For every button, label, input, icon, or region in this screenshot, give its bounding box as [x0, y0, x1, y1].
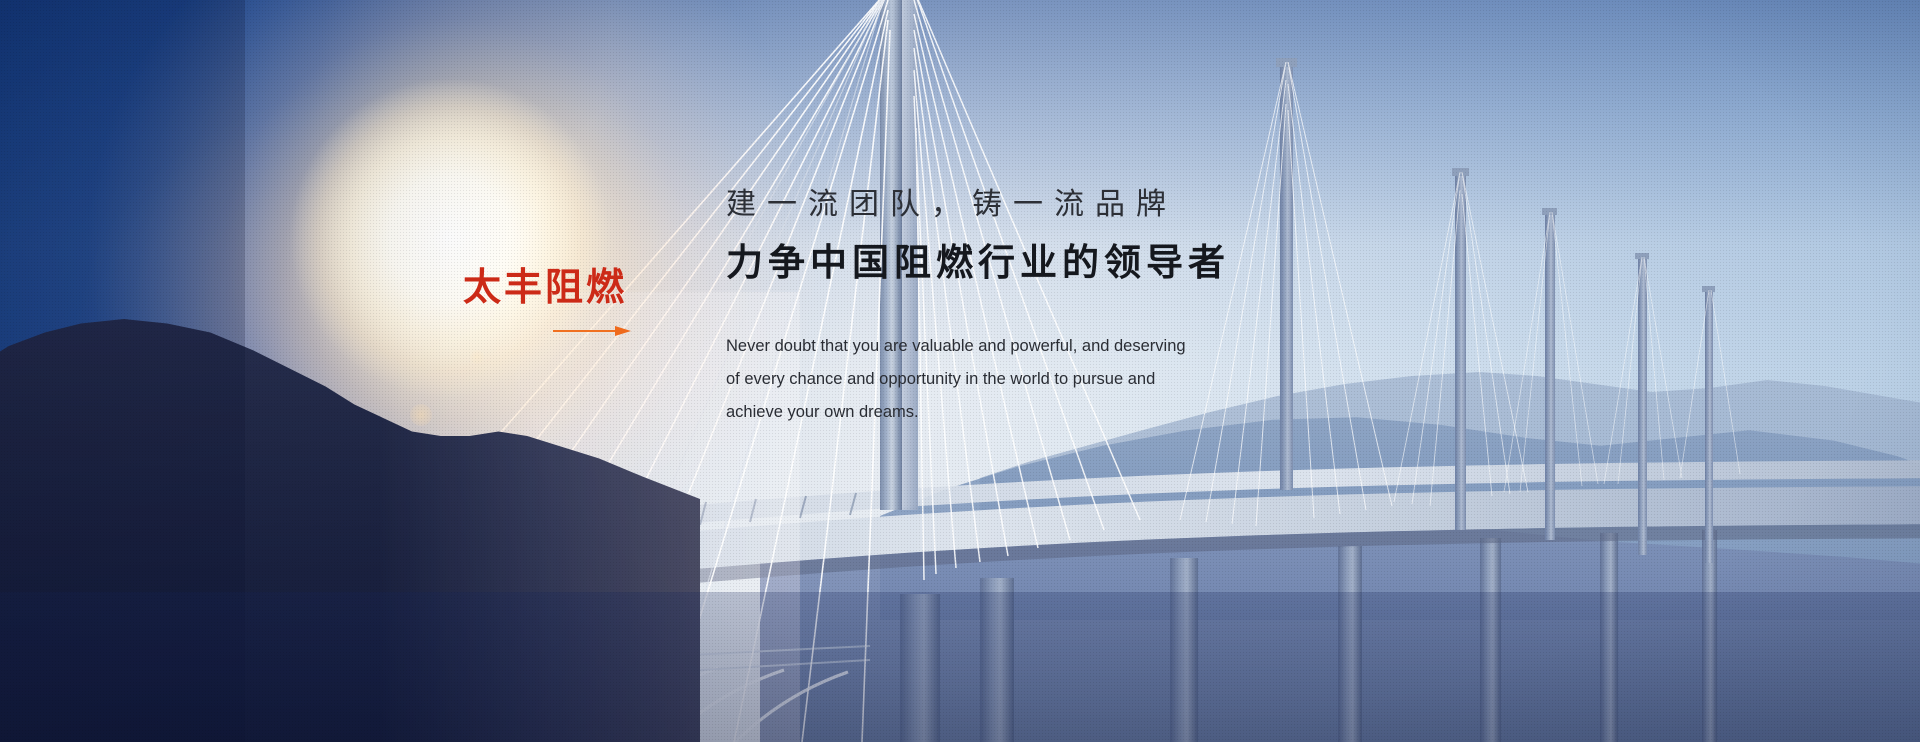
banner-copy: 太丰阻燃 建一流团队，铸一流品牌 力争中国阻燃行业的领导者 Never doub…: [0, 0, 1920, 742]
hero-banner: 太丰阻燃 建一流团队，铸一流品牌 力争中国阻燃行业的领导者 Never doub…: [0, 0, 1920, 742]
right-arrow-icon: [553, 324, 631, 336]
headline-title: 力争中国阻燃行业的领导者: [726, 240, 1626, 286]
description-line-1: Never doubt that you are valuable and po…: [726, 330, 1306, 363]
description-line-3: achieve your own dreams.: [726, 396, 1306, 429]
headline-subtitle: 建一流团队，铸一流品牌: [726, 186, 1626, 224]
headline-block: 建一流团队，铸一流品牌 力争中国阻燃行业的领导者: [726, 186, 1626, 286]
brand-logo[interactable]: 太丰阻燃: [463, 268, 643, 306]
description-paragraph: Never doubt that you are valuable and po…: [726, 330, 1306, 429]
description-line-2: of every chance and opportunity in the w…: [726, 363, 1306, 396]
brand-logo-text: 太丰阻燃: [463, 268, 643, 306]
